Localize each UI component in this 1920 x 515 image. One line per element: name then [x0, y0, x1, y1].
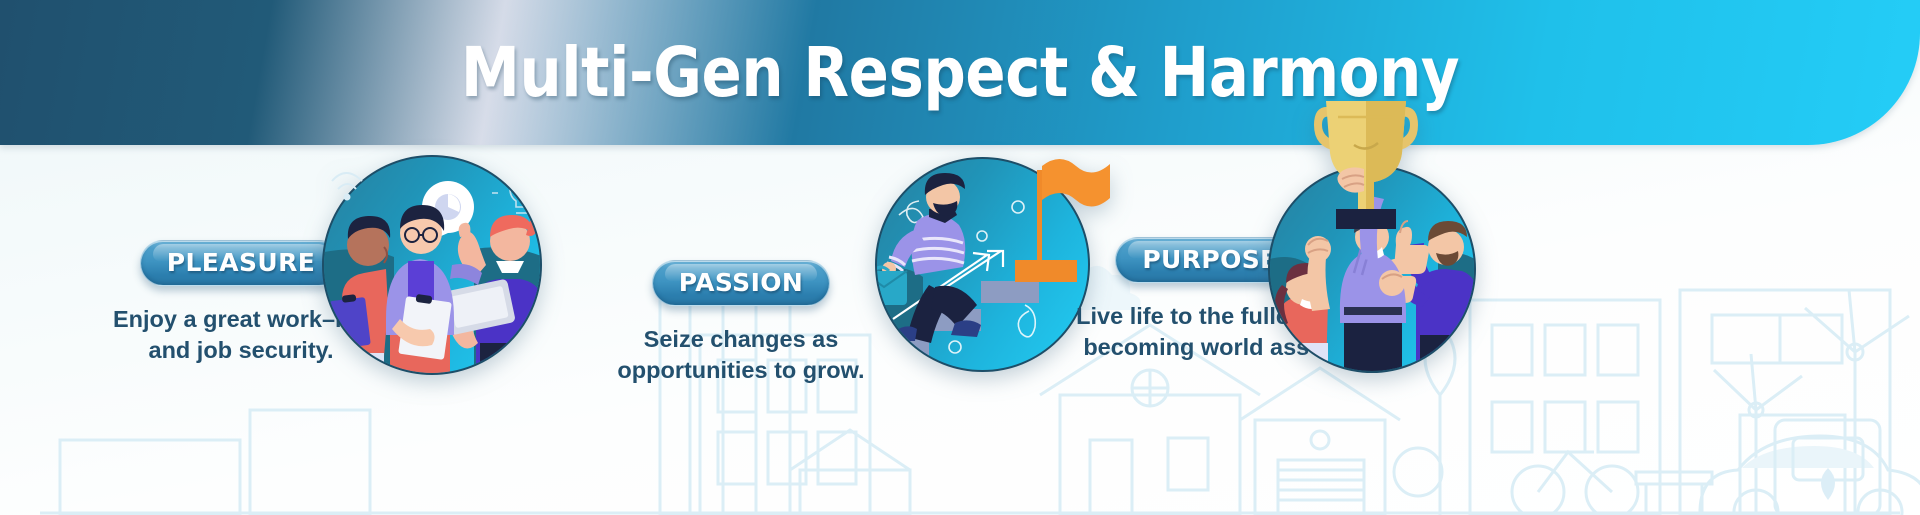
lightbulb-icon — [492, 159, 542, 213]
illustration-purpose-disc — [1268, 165, 1476, 373]
wind-turbine — [1714, 354, 1802, 515]
illustration-pleasure-disc — [322, 155, 542, 375]
badge-pleasure[interactable]: PLEASURE — [140, 240, 343, 286]
illustration-purpose — [1268, 165, 1476, 373]
card-passion-text: PASSION Seize changes as opportunities t… — [596, 260, 886, 387]
header-bar: Multi-Gen Respect & Harmony — [0, 0, 1920, 145]
team-celebrating-with-trophy-illustration — [1270, 167, 1476, 373]
wind-turbine — [1805, 290, 1909, 515]
banner-root: Multi-Gen Respect & Harmony PLEASURE Enj… — [0, 0, 1920, 515]
charging-station — [1775, 420, 1880, 515]
card-purpose: PURPOSE Live life to the fullest by beco… — [1050, 145, 1670, 515]
raised-fist-icon — [1379, 270, 1405, 296]
briefcase-icon — [877, 271, 907, 305]
illustration-pleasure — [322, 155, 542, 375]
apartment-block — [1680, 290, 1890, 515]
person-center-trophy — [1340, 195, 1406, 373]
three-colleagues-talking-illustration — [324, 157, 542, 375]
car — [1700, 436, 1920, 515]
page-title: Multi-Gen Respect & Harmony — [134, 0, 1785, 145]
caption-passion: Seize changes as opportunities to grow. — [596, 324, 886, 387]
card-pleasure: PLEASURE Enjoy a great work–life and job… — [60, 145, 620, 515]
raised-fist-icon — [1305, 236, 1331, 262]
badge-passion[interactable]: PASSION — [652, 260, 831, 306]
person-right — [442, 215, 542, 375]
